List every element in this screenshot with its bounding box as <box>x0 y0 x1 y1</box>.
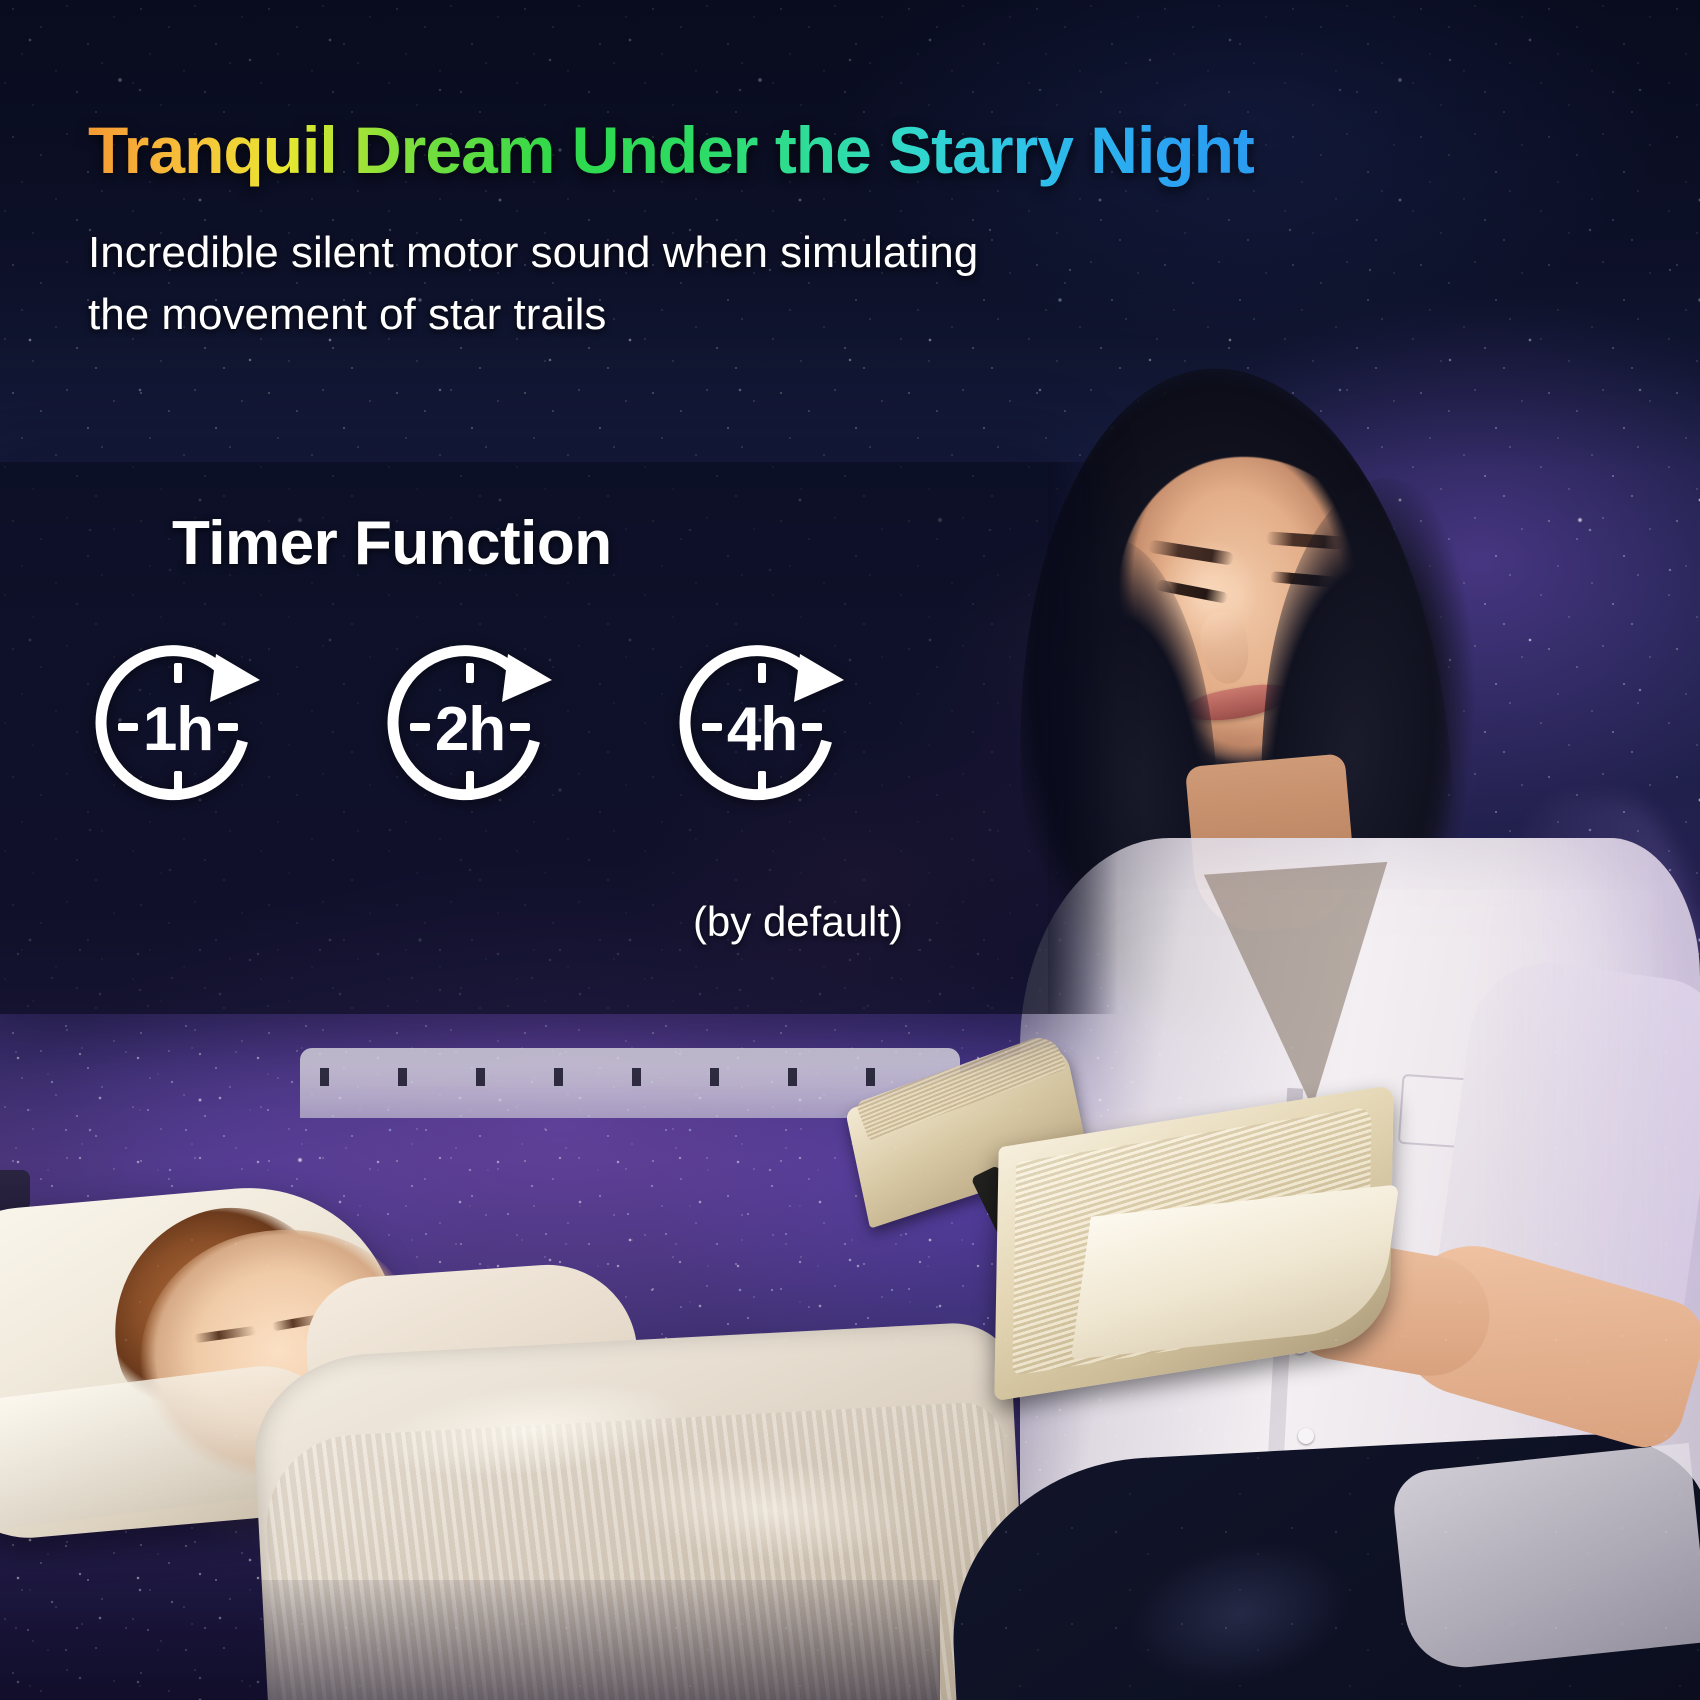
feature-banner: Tranquil Dream Under the Starry Night In… <box>0 0 1700 1700</box>
subtitle: Incredible silent motor sound when simul… <box>88 222 1288 347</box>
timer-function-heading: Timer Function <box>172 508 612 579</box>
timer-options-list: 1h 2h 4h <box>88 632 852 822</box>
blouse-hem-drape <box>1390 1443 1700 1673</box>
clock-rotate-arrow-icon <box>88 632 268 822</box>
default-timer-note: (by default) <box>648 898 948 946</box>
bed-with-sleeping-child <box>0 1040 980 1700</box>
subtitle-line-2: the movement of star trails <box>88 284 1288 346</box>
bed-base-shadow <box>0 1580 940 1700</box>
headboard-studs <box>320 1068 940 1086</box>
open-book <box>852 1052 1412 1432</box>
clock-rotate-arrow-icon <box>672 632 852 822</box>
timer-option-4h[interactable]: 4h <box>672 632 852 822</box>
timer-option-2h[interactable]: 2h <box>380 632 560 822</box>
clock-rotate-arrow-icon <box>380 632 560 822</box>
timer-option-1h[interactable]: 1h <box>88 632 268 822</box>
subtitle-line-1: Incredible silent motor sound when simul… <box>88 222 1288 284</box>
page-title: Tranquil Dream Under the Starry Night <box>88 112 1254 188</box>
